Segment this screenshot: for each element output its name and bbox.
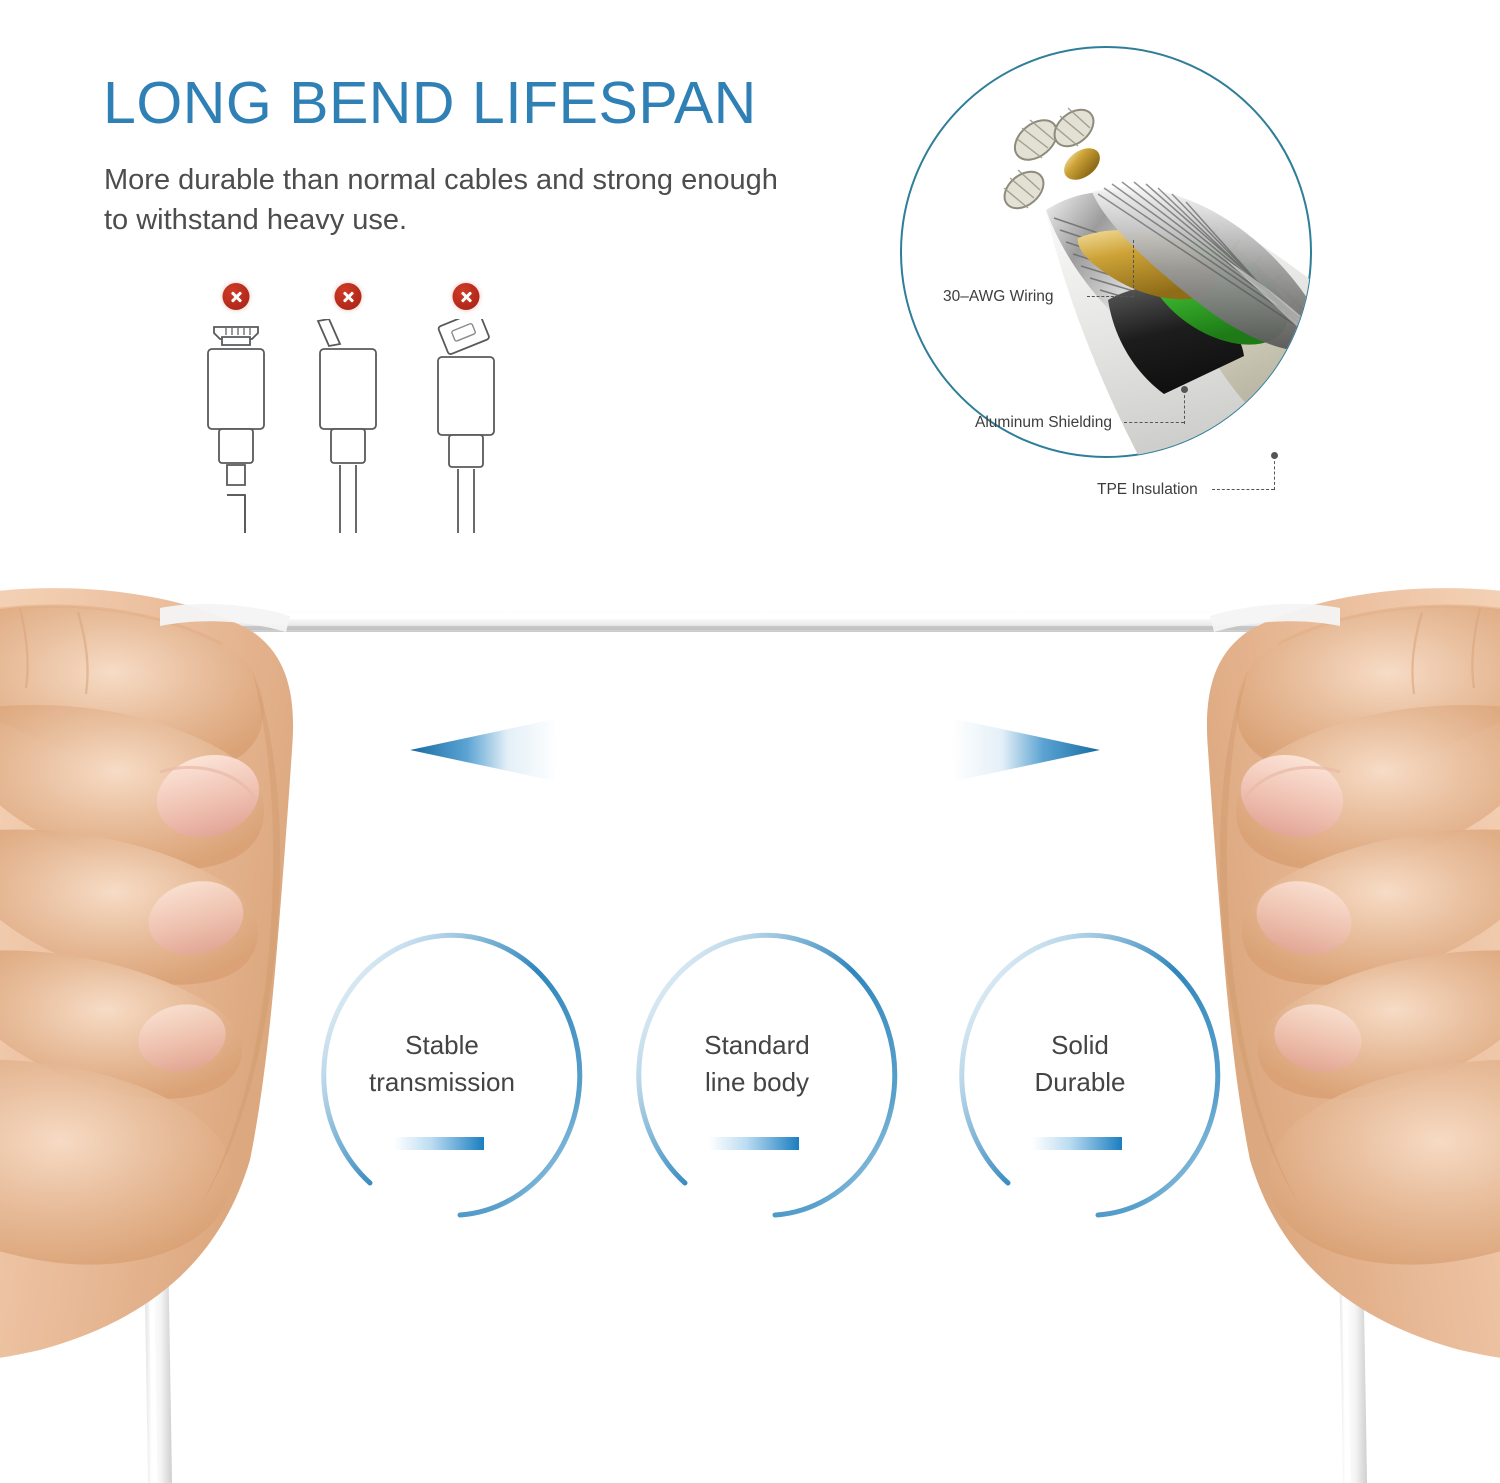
badge-underline-bar — [1032, 1137, 1122, 1150]
callout-dot-aluminum — [1181, 386, 1188, 393]
frayed-connector-icon — [186, 319, 286, 533]
bent-connector-icon — [298, 319, 398, 533]
callout-dot-tpe — [1271, 452, 1278, 459]
badge-underline-bar — [709, 1137, 799, 1150]
feature-badge-standard-line-body: Standard line body — [625, 915, 925, 1245]
damaged-cable-icon-row — [180, 283, 520, 533]
x-mark-icon — [453, 283, 480, 310]
callout-label-aluminum: Aluminum Shielding — [975, 414, 1112, 432]
badge-label-line1: Solid — [982, 1027, 1178, 1064]
feature-badge-row: Stable transmission Stan — [300, 915, 1260, 1245]
feature-badge-stable-transmission: Stable transmission — [310, 915, 610, 1245]
damaged-cable-item-frayed — [186, 283, 286, 533]
x-mark-icon — [335, 283, 362, 310]
page-title: LONG BEND LIFESPAN — [103, 74, 757, 133]
damaged-cable-item-bent — [298, 283, 398, 533]
detached-connector-icon — [416, 319, 516, 533]
badge-label-line1: Stable — [344, 1027, 540, 1064]
left-fist — [0, 588, 293, 1364]
damaged-cable-item-detached — [416, 283, 516, 533]
badge-label-line2: line body — [659, 1064, 855, 1101]
arrow-left-icon — [410, 719, 558, 781]
badge-label-line2: transmission — [344, 1064, 540, 1101]
feature-badge-solid-durable: Solid Durable — [948, 915, 1248, 1245]
callout-label-tpe: TPE Insulation — [1097, 481, 1198, 499]
badge-label: Solid Durable — [982, 1027, 1178, 1101]
badge-label-line1: Standard — [659, 1027, 855, 1064]
callout-leader-aluminum-vertical — [1184, 390, 1185, 424]
x-mark-icon — [223, 283, 250, 310]
callout-leader-tpe — [1212, 489, 1274, 490]
callout-leader-tpe-vertical — [1274, 456, 1275, 490]
callout-label-awg: 30–AWG Wiring — [943, 288, 1054, 306]
stretch-direction-arrows — [400, 700, 1110, 800]
callout-leader-aluminum — [1124, 422, 1184, 423]
stretched-cable-horizontal — [120, 610, 1388, 632]
badge-label: Stable transmission — [344, 1027, 540, 1101]
callout-leader-awg — [1087, 296, 1133, 297]
badge-underline-bar — [394, 1137, 484, 1150]
badge-label-line2: Durable — [982, 1064, 1178, 1101]
callout-leader-awg-vertical — [1133, 240, 1134, 298]
product-feature-infographic: LONG BEND LIFESPAN More durable than nor… — [0, 0, 1500, 1483]
arrow-right-icon — [952, 719, 1100, 781]
page-subtitle: More durable than normal cables and stro… — [104, 160, 784, 240]
badge-label: Standard line body — [659, 1027, 855, 1101]
